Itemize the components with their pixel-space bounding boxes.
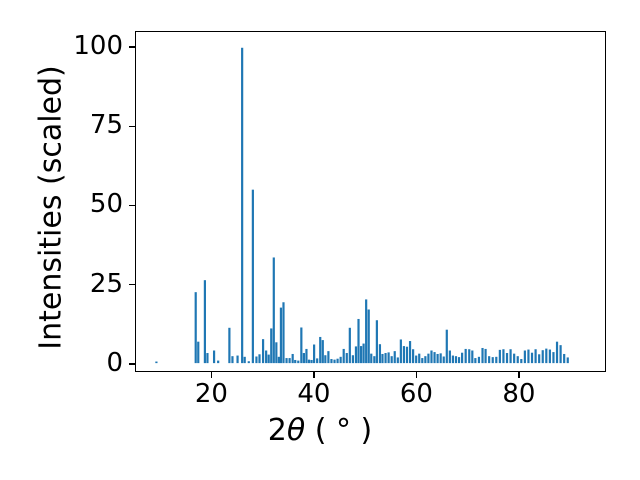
- xrd-peak-bar: [513, 354, 515, 363]
- xrd-peak-bar: [316, 358, 318, 363]
- xrd-peak-bar: [228, 328, 230, 363]
- xrd-peak-bar: [474, 358, 476, 363]
- xrd-peak-bar: [213, 351, 215, 364]
- xrd-peak-bar: [509, 349, 511, 363]
- xrd-peak-bar: [278, 357, 280, 363]
- xrd-peak-bar: [488, 356, 490, 363]
- xrd-peak-bar: [527, 350, 529, 364]
- xrd-peak-bar: [327, 351, 329, 363]
- y-tick-label: 75: [90, 112, 123, 138]
- xrd-peak-bar: [492, 357, 494, 363]
- xrd-peak-bar: [231, 356, 233, 363]
- xrd-peak-bar: [400, 339, 402, 363]
- xrd-peak-bar: [297, 361, 299, 364]
- xrd-peak-bar: [300, 327, 302, 363]
- xrd-peak-bar: [273, 257, 275, 363]
- xrd-peak-bar: [357, 319, 359, 363]
- xrd-peak-bar: [542, 350, 544, 363]
- xrd-peak-bar: [336, 359, 338, 363]
- xrd-peak-bar: [478, 357, 480, 363]
- xrd-peak-bar: [197, 342, 199, 363]
- xrd-peak-bar: [195, 292, 197, 363]
- xrd-peak-bar: [545, 349, 547, 364]
- xrd-peak-bar: [443, 356, 445, 363]
- xrd-peak-bar: [324, 355, 326, 363]
- xrd-peak-bar: [360, 346, 362, 363]
- xrd-peak-bar: [248, 361, 250, 363]
- xrd-peak-bar: [204, 280, 206, 363]
- x-tick-mark: [416, 372, 417, 378]
- xrd-peak-bar: [549, 350, 551, 364]
- xrd-peak-bar: [282, 302, 284, 363]
- xrd-peak-bar: [244, 357, 246, 363]
- xrd-peak-bar: [458, 357, 460, 363]
- xrd-peak-bar: [538, 354, 540, 363]
- xrd-peak-bar: [368, 310, 370, 364]
- xrd-peak-bar: [363, 344, 365, 364]
- xrd-peak-bar: [289, 358, 291, 363]
- xrd-peak-bar: [455, 356, 457, 363]
- xrd-peak-bar: [285, 358, 287, 363]
- xrd-peak-bar: [567, 357, 569, 363]
- xrd-peak-bar: [535, 349, 537, 363]
- xrd-peak-bar: [495, 357, 497, 363]
- xrd-peak-bar: [330, 359, 332, 363]
- xrd-peak-bar: [461, 353, 463, 363]
- x-tick-label: 60: [400, 381, 433, 407]
- xrd-peak-bar: [241, 48, 243, 363]
- xrd-peak-bar: [391, 356, 393, 363]
- xrd-peak-bar: [502, 349, 504, 363]
- xrd-peak-bar: [322, 340, 324, 363]
- xrd-peak-bar: [313, 345, 315, 364]
- xrd-peak-bar: [294, 360, 296, 363]
- y-tick-label: 100: [73, 33, 123, 59]
- bar-series: [155, 48, 569, 363]
- xrd-peak-bar: [556, 342, 558, 363]
- xrd-peak-bar: [340, 357, 342, 363]
- xrd-peak-bar: [468, 349, 470, 363]
- xrd-peak-bar: [446, 330, 448, 363]
- xrd-peak-bar: [427, 354, 429, 363]
- xrd-peak-bar: [376, 320, 378, 363]
- y-tick-label: 25: [90, 271, 123, 297]
- xrd-peak-bar: [421, 358, 423, 363]
- xrd-peak-bar: [262, 339, 264, 363]
- xrd-peak-bar: [506, 353, 508, 363]
- x-tick-label: 80: [502, 381, 535, 407]
- xrd-peak-bar: [217, 361, 219, 364]
- xrd-peak-bar: [292, 354, 294, 363]
- xrd-peak-bar: [412, 349, 414, 363]
- xrd-peak-bar: [305, 349, 307, 363]
- xrd-peak-bar: [424, 356, 426, 363]
- xrd-peak-bar: [236, 356, 238, 364]
- x-tick-mark: [211, 372, 212, 378]
- xrd-peak-bar: [303, 353, 305, 363]
- xrd-peak-bar: [524, 351, 526, 364]
- xrd-peak-bar: [379, 344, 381, 363]
- x-tick-mark: [313, 372, 314, 378]
- xrd-chart-figure: 0 25 50 75 100 20 40 60 80 2θ ( ° ) Inte…: [0, 0, 640, 480]
- xrd-peak-bar: [388, 352, 390, 363]
- xrd-peak-bar: [373, 356, 375, 363]
- xrd-peak-bar: [349, 328, 351, 363]
- xrd-peak-bar: [370, 354, 372, 363]
- xrd-peak-bar: [430, 351, 432, 364]
- xrd-peak-bar: [465, 349, 467, 363]
- xrd-peak-bar: [481, 348, 483, 363]
- xrd-peak-bar: [258, 354, 260, 363]
- xrd-peak-bar: [433, 352, 435, 363]
- xrd-peak-bar: [346, 353, 348, 363]
- xrd-peak-bar: [355, 346, 357, 363]
- xrd-peak-bar: [206, 353, 208, 363]
- x-tick-label: 40: [297, 381, 330, 407]
- xrd-peak-bar: [531, 353, 533, 363]
- xrd-peak-bar: [255, 356, 257, 363]
- xrd-peak-bar: [409, 341, 411, 363]
- xrd-bars-svg: [136, 32, 605, 371]
- plot-axes-frame: [135, 31, 606, 372]
- xrd-peak-bar: [275, 342, 277, 363]
- xrd-peak-bar: [484, 349, 486, 363]
- x-tick-label: 20: [195, 381, 228, 407]
- xrd-peak-bar: [333, 360, 335, 363]
- y-axis-title: Intensities (scaled): [34, 38, 69, 378]
- xrd-peak-bar: [252, 190, 254, 363]
- xrd-peak-bar: [365, 299, 367, 363]
- xrd-peak-bar: [155, 362, 157, 364]
- xrd-peak-bar: [517, 356, 519, 363]
- xrd-peak-bar: [499, 350, 501, 363]
- x-tick-mark: [518, 372, 519, 378]
- y-tick-label: 50: [90, 191, 123, 217]
- xrd-peak-bar: [397, 357, 399, 363]
- xrd-peak-bar: [381, 354, 383, 363]
- xrd-peak-bar: [343, 349, 345, 363]
- xrd-peak-bar: [384, 353, 386, 363]
- xrd-peak-bar: [437, 354, 439, 363]
- xrd-peak-bar: [552, 352, 554, 363]
- xrd-peak-bar: [563, 354, 565, 363]
- xrd-peak-bar: [265, 351, 267, 364]
- xrd-peak-bar: [268, 355, 270, 364]
- xrd-peak-bar: [394, 351, 396, 363]
- xrd-peak-bar: [418, 354, 420, 363]
- xrd-peak-bar: [471, 351, 473, 364]
- xrd-peak-bar: [319, 337, 321, 363]
- xrd-peak-bar: [415, 356, 417, 364]
- xrd-peak-bar: [403, 346, 405, 363]
- xrd-peak-bar: [352, 355, 354, 363]
- xrd-peak-bar: [560, 345, 562, 363]
- xrd-peak-bar: [449, 351, 451, 364]
- xrd-peak-bar: [270, 328, 272, 363]
- xrd-peak-bar: [280, 308, 282, 364]
- xrd-peak-bar: [406, 347, 408, 363]
- x-axis-title: 2θ ( ° ): [0, 413, 640, 448]
- xrd-peak-bar: [452, 356, 454, 364]
- xrd-peak-bar: [308, 360, 310, 363]
- xrd-peak-bar: [520, 359, 522, 363]
- xrd-peak-bar: [310, 360, 312, 363]
- xrd-peak-bar: [440, 353, 442, 363]
